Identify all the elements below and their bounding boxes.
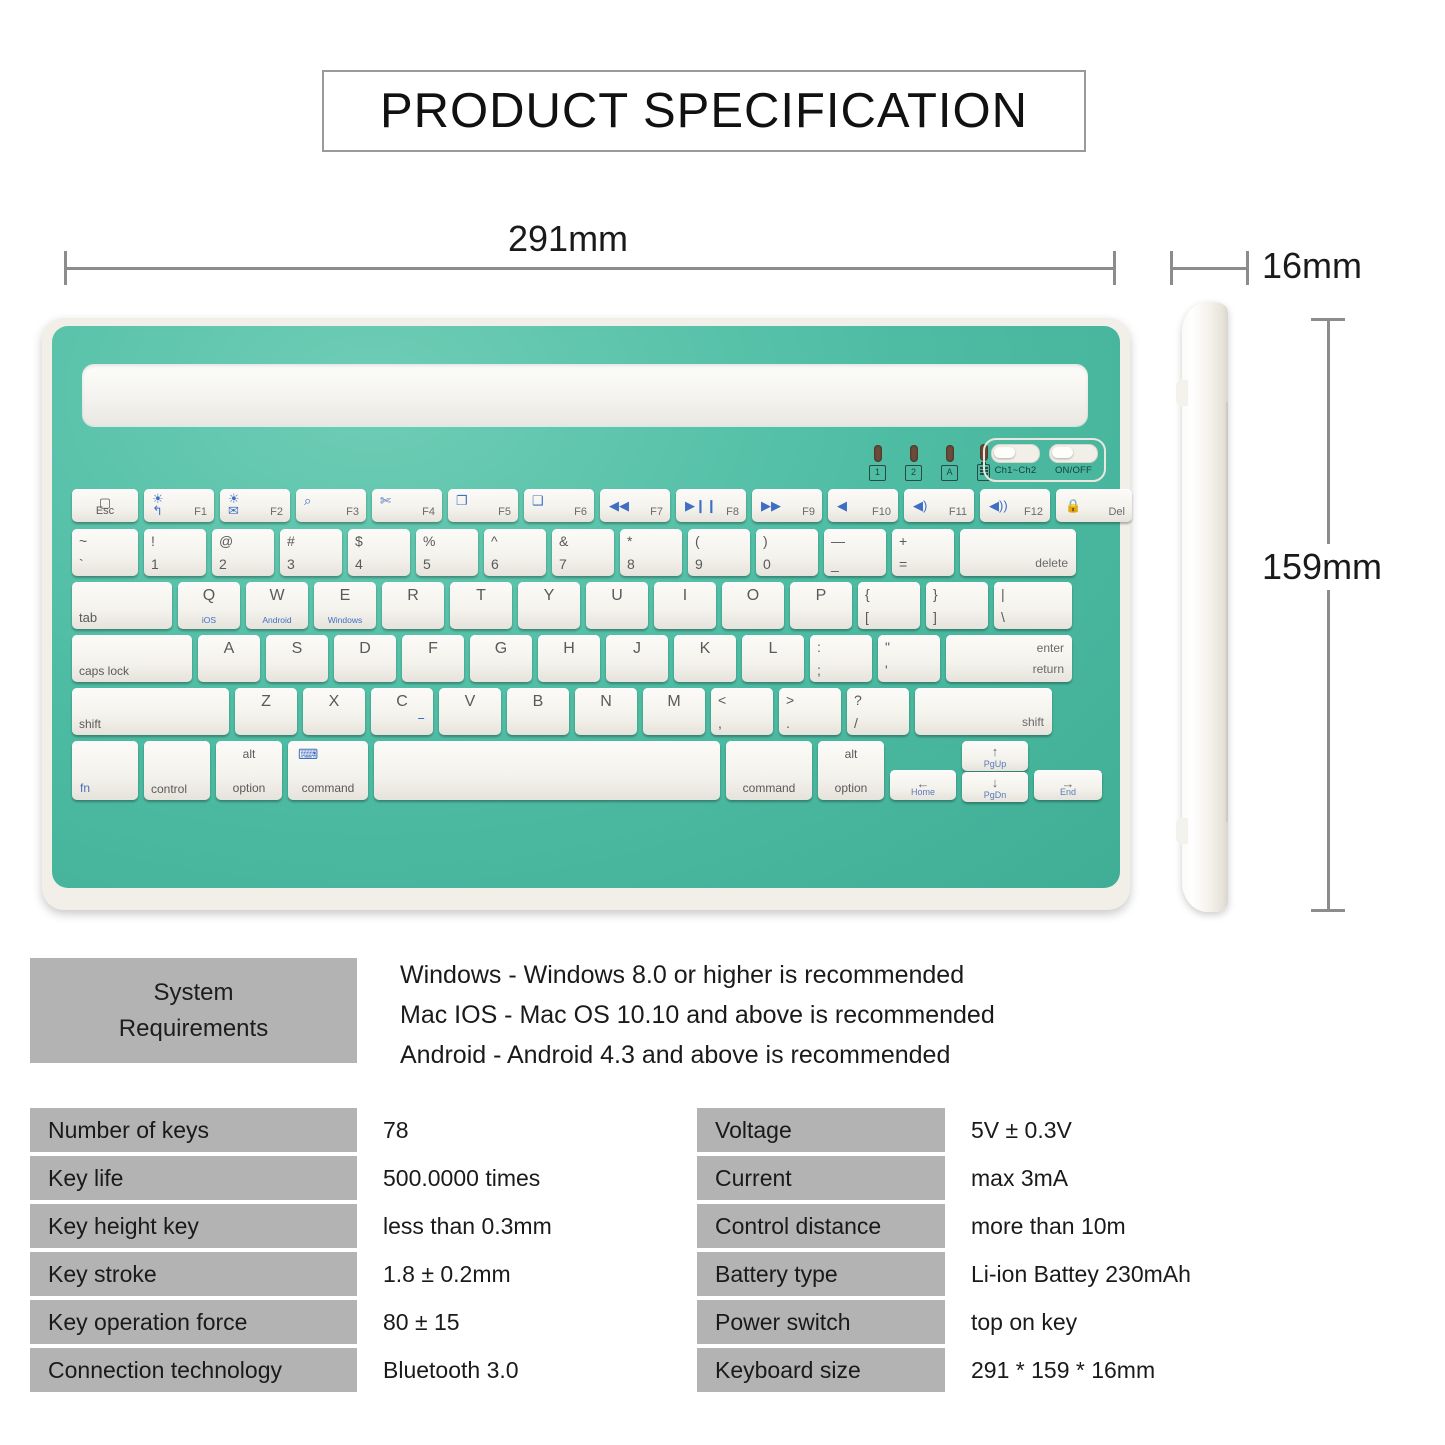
width-dimension-label: 291mm [508,218,628,260]
key-label: O [722,587,784,605]
power-switch-track[interactable] [1049,444,1098,463]
key-period[interactable]: > . [779,688,841,735]
key-arrow-up[interactable]: ↑ PgUp [962,741,1028,771]
key-label: E [314,587,376,605]
key-f7[interactable]: ◀◀ F7 [600,489,670,522]
key-f10-label: F10 [872,506,891,518]
key-label: F [402,640,464,658]
rewind-icon: ◀◀ [609,498,629,514]
home-key-row: caps lock A S D F G H J K L : ; " ' ente… [72,635,1072,682]
fast-forward-icon: ▶▶ [761,498,781,514]
key-f11-label: F11 [949,506,967,518]
power-switch-label: ON/OFF [1055,465,1092,476]
key-command-right-label: command [726,781,812,795]
key-pgup-label: PgUp [962,759,1028,769]
lock-icon: 🔒 [1065,498,1081,514]
channel-switch-label: Ch1~Ch2 [995,465,1037,476]
number-key-row: ~ ` ! 1 @ 2 # 3 $ 4 % 5 [72,529,1076,576]
key-9[interactable]: ( 9 [688,529,750,576]
key-backtick[interactable]: ~ ` [72,529,138,576]
key-fn[interactable]: fn [72,741,138,800]
requirement-mac: Mac IOS - Mac OS 10.10 and above is reco… [400,995,995,1035]
volume-down-icon: ◀) [913,498,927,514]
key-f12[interactable]: ◀)) F12 [980,489,1050,522]
key-0[interactable]: ) 0 [756,529,818,576]
height-dimension-line [1327,318,1330,912]
key-label: D [334,640,396,658]
key-f5[interactable]: ❐ F5 [448,489,518,522]
mail-icon: ✉ [228,504,239,517]
key-a[interactable]: A [198,635,260,682]
key-backslash[interactable]: | \ [994,582,1072,629]
key-label: A [198,640,260,658]
key-f4[interactable]: ✄ F4 [372,489,442,522]
key-esc[interactable]: ▢ Esc [72,489,138,522]
channel-2-label: 2 [905,465,922,481]
key-f6[interactable]: ❑ F6 [524,489,594,522]
key-bracket-left[interactable]: { [ [858,582,920,629]
depth-dimension-cap-left [1170,251,1173,285]
key-f3-label: F3 [346,506,359,518]
key-s[interactable]: S [266,635,328,682]
side-profile-shape [1182,302,1228,912]
page-title-box: PRODUCT SPECIFICATION [322,70,1086,152]
key-command-right[interactable]: command [726,741,812,800]
key-label-top: ~ [79,533,87,549]
key-f1[interactable]: ☀ ↰ F1 [144,489,214,522]
key-label-top: > [786,692,794,708]
key-f9-label: F9 [802,506,815,518]
key-equal[interactable]: + = [892,529,954,576]
key-sublabel-android: Android [246,615,308,625]
key-6[interactable]: ^ 6 [484,529,546,576]
channel-2-indicator: 2 [905,445,922,481]
key-x[interactable]: X [303,688,365,735]
arrow-vertical-stack: ↑ PgUp ↓ PgDn [962,741,1028,800]
depth-dimension-label: 16mm [1262,245,1362,287]
key-label-bottom: 3 [287,556,295,572]
key-label-bottom: ; [817,662,821,678]
width-dimension-line [64,267,1116,270]
key-label-top: < [718,692,726,708]
key-f2[interactable]: ☀ ✉ F2 [220,489,290,522]
key-arrow-right[interactable]: → End [1034,770,1102,800]
key-label-bottom: ] [933,609,937,625]
key-label-bottom: 1 [151,556,159,572]
key-f2-label: F2 [270,506,283,518]
mute-icon: ◀ [837,498,847,514]
key-label: Q [178,587,240,605]
system-requirements-label-line2: Requirements [119,1015,268,1043]
spec-label-power-switch: Power switch [697,1300,945,1344]
key-c[interactable]: C ᭸ [371,688,433,735]
spec-value-control-distance: more than 10m [945,1204,1412,1248]
spec-label-keyboard-size: Keyboard size [697,1348,945,1392]
key-label: G [470,640,532,658]
key-label-top: + [899,533,907,549]
key-return-label: return [1033,662,1064,676]
key-shift-left[interactable]: shift [72,688,229,735]
key-o[interactable]: O [722,582,784,629]
key-d[interactable]: D [334,635,396,682]
key-command-left[interactable]: ⌨ command [288,741,368,800]
indicator-cluster: 1 2 A [869,444,990,481]
caps-lock-label: A [941,465,958,481]
key-f8-label: F8 [726,506,739,518]
key-del-label: Del [1108,506,1125,518]
key-label-bottom: 7 [559,556,567,572]
key-bracket-right[interactable]: } ] [926,582,988,629]
spec-label-key-stroke: Key stroke [30,1252,357,1296]
key-label: L [742,640,804,658]
key-label: X [303,693,365,711]
key-arrow-down[interactable]: ↓ PgDn [962,772,1028,802]
key-alt-label: alt [818,747,884,761]
key-label-bottom: , [718,715,722,731]
key-home-label: Home [890,787,956,797]
key-h[interactable]: H [538,635,600,682]
keyboard-side-view [1176,302,1234,912]
key-label: M [643,693,705,711]
key-i[interactable]: I [654,582,716,629]
key-label-top: ^ [491,533,498,549]
spec-value-number-of-keys: 78 [357,1108,697,1152]
key-label-bottom: 5 [423,556,431,572]
key-j[interactable]: J [606,635,668,682]
key-f1-label: F1 [194,506,207,518]
key-delete[interactable]: delete [960,529,1076,576]
key-label-top: | [1001,586,1005,602]
key-shift-right[interactable]: shift [915,688,1052,735]
paste-icon: ❑ [532,494,544,507]
arrow-down-icon: ↓ [962,775,1028,790]
key-label-top: — [831,533,845,549]
key-arrow-left[interactable]: ← Home [890,770,956,800]
caps-lock-indicator: A [941,445,958,481]
key-label-bottom: 9 [695,556,703,572]
key-label-top: ? [854,692,862,708]
key-label-top: % [423,533,435,549]
key-label-bottom: / [854,715,858,731]
key-quote[interactable]: " ' [878,635,940,682]
key-fn-label: fn [80,781,90,795]
height-dimension-label: 159mm [1262,544,1382,590]
system-requirements-label-box: System Requirements [30,958,357,1063]
key-label: P [790,587,852,605]
power-switch[interactable]: ON/OFF [1049,444,1098,476]
key-3[interactable]: # 3 [280,529,342,576]
key-option-label: option [216,781,282,795]
key-label: T [450,587,512,605]
copy-icon: ❐ [456,494,468,507]
key-label-bottom: = [899,556,907,572]
keyboard-icon: ⌨ [298,747,318,761]
key-2[interactable]: @ 2 [212,529,274,576]
key-y[interactable]: Y [518,582,580,629]
key-slash[interactable]: ? / [847,688,909,735]
key-label-top: } [933,586,938,602]
key-caps-lock-label: caps lock [79,664,129,678]
search-icon: ⌕ [304,494,311,507]
spec-value-key-operation-force: 80 ± 15 [357,1300,697,1344]
key-label-top: $ [355,533,363,549]
key-option-left[interactable]: alt option [216,741,282,800]
key-p[interactable]: P [790,582,852,629]
key-label-bottom: . [786,715,790,731]
key-f8[interactable]: ▶❙❙ F8 [676,489,746,522]
shift-key-row: shift Z X C ᭸ V B N M < , > . ? / [72,688,1052,735]
spec-value-key-stroke: 1.8 ± 0.2mm [357,1252,697,1296]
key-label: Z [235,693,297,711]
key-label: N [575,693,637,711]
key-4[interactable]: $ 4 [348,529,410,576]
keyboard-face: 1 2 A Ch1~Ch2 ON/OFF [52,326,1120,888]
key-label-bottom: 4 [355,556,363,572]
key-f6-label: F6 [574,506,587,518]
system-requirements-list: Windows - Windows 8.0 or higher is recom… [400,955,995,1075]
key-label-bottom: 0 [763,556,771,572]
spec-label-key-operation-force: Key operation force [30,1300,357,1344]
key-t[interactable]: T [450,582,512,629]
key-b[interactable]: B [507,688,569,735]
key-n[interactable]: N [575,688,637,735]
key-label: R [382,587,444,605]
key-u[interactable]: U [586,582,648,629]
key-7[interactable]: & 7 [552,529,614,576]
width-dimension-cap-right [1113,251,1116,285]
scissors-icon: ✄ [380,494,391,507]
volume-up-icon: ◀)) [989,498,1008,514]
key-f5-label: F5 [498,506,511,518]
spec-label-key-life: Key life [30,1156,357,1200]
height-dimension-cap-top [1311,318,1345,321]
key-enter[interactable]: enter return [946,635,1072,682]
key-end-label: End [1034,787,1102,797]
key-f3[interactable]: ⌕ F3 [296,489,366,522]
bluetooth-icon: ᭸ [417,709,425,731]
key-label: J [606,640,668,658]
key-caps-lock[interactable]: caps lock [72,635,192,682]
key-f[interactable]: F [402,635,464,682]
led-icon [910,445,918,462]
key-g[interactable]: G [470,635,532,682]
key-e[interactable]: E Windows [314,582,376,629]
key-esc-label: Esc [72,505,138,517]
key-label: I [654,587,716,605]
specification-table: Number of keys 78 Voltage 5V ± 0.3V Key … [30,1108,1412,1392]
key-label-top: ( [695,533,700,549]
key-f10[interactable]: ◀ F10 [828,489,898,522]
led-icon [946,445,954,462]
key-8[interactable]: * 8 [620,529,682,576]
key-tab[interactable]: tab [72,582,172,629]
spec-label-voltage: Voltage [697,1108,945,1152]
key-label-bottom: 2 [219,556,227,572]
key-shift-left-label: shift [79,717,101,731]
key-m[interactable]: M [643,688,705,735]
depth-dimension-line [1170,267,1248,270]
key-label: S [266,640,328,658]
spec-label-key-height: Key height key [30,1204,357,1248]
depth-dimension-cap-right [1246,251,1249,285]
key-space[interactable] [374,741,720,800]
key-r[interactable]: R [382,582,444,629]
key-q[interactable]: Q iOS [178,582,240,629]
requirement-windows: Windows - Windows 8.0 or higher is recom… [400,955,995,995]
spec-value-key-life: 500.0000 times [357,1156,697,1200]
channel-switch[interactable]: Ch1~Ch2 [991,444,1040,476]
page-title: PRODUCT SPECIFICATION [380,83,1028,139]
key-label-top: * [627,533,632,549]
qwerty-key-row: tab Q iOS W Android E Windows R T Y U I … [72,582,1072,629]
channel-1-indicator: 1 [869,445,886,481]
key-label-bottom: \ [1001,609,1005,625]
key-control[interactable]: control [144,741,210,800]
key-5[interactable]: % 5 [416,529,478,576]
spec-value-keyboard-size: 291 * 159 * 16mm [945,1348,1412,1392]
key-label: V [439,693,501,711]
key-option-label: option [818,781,884,795]
requirement-android: Android - Android 4.3 and above is recom… [400,1035,995,1075]
key-l[interactable]: L [742,635,804,682]
spec-label-battery-type: Battery type [697,1252,945,1296]
key-label: B [507,693,569,711]
side-nub-bottom [1176,818,1188,844]
spec-value-battery-type: Li-ion Battey 230mAh [945,1252,1412,1296]
key-option-right[interactable]: alt option [818,741,884,800]
key-z[interactable]: Z [235,688,297,735]
key-label-bottom: ' [885,662,888,678]
key-pgdn-label: PgDn [962,790,1028,800]
key-sublabel-windows: Windows [314,615,376,625]
channel-switch-knob[interactable] [994,447,1015,458]
key-label-top: " [885,639,890,655]
key-delete-label: delete [1035,556,1068,570]
spec-label-number-of-keys: Number of keys [30,1108,357,1152]
key-v[interactable]: V [439,688,501,735]
switch-cluster: Ch1~Ch2 ON/OFF [983,438,1106,482]
led-icon [874,445,882,462]
back-icon: ↰ [152,504,163,517]
key-label-top: & [559,533,568,549]
key-label-bottom: [ [865,609,869,625]
spec-label-control-distance: Control distance [697,1204,945,1248]
system-requirements-label-line1: System [153,979,233,1007]
key-minus[interactable]: — _ [824,529,886,576]
key-f4-label: F4 [422,506,435,518]
key-enter-label: enter [1037,641,1064,655]
key-f11[interactable]: ◀) F11 [904,489,974,522]
spec-value-connection-technology: Bluetooth 3.0 [357,1348,697,1392]
key-label: U [586,587,648,605]
key-label: K [674,640,736,658]
spec-value-voltage: 5V ± 0.3V [945,1108,1412,1152]
spec-label-current: Current [697,1156,945,1200]
key-label-bottom: 6 [491,556,499,572]
key-label-top: : [817,639,821,655]
height-dimension-cap-bottom [1311,909,1345,912]
keyboard-top-view: 1 2 A Ch1~Ch2 ON/OFF [42,318,1130,910]
key-k[interactable]: K [674,635,736,682]
width-dimension-cap-left [64,251,67,285]
tablet-stand-groove [82,364,1088,426]
key-f7-label: F7 [650,506,663,518]
key-alt-label: alt [216,747,282,761]
key-label-top: ) [763,533,768,549]
power-switch-knob[interactable] [1052,447,1073,458]
function-key-row: ▢ Esc ☀ ↰ F1 ☀ ✉ F2 ⌕ F3 ✄ F4 ❐ [72,489,1132,522]
key-semicolon[interactable]: : ; [810,635,872,682]
channel-switch-track[interactable] [991,444,1040,463]
key-sublabel-ios: iOS [178,615,240,625]
key-label-top: { [865,586,870,602]
bottom-key-row: fn control alt option ⌨ command command … [72,741,1102,800]
channel-1-label: 1 [869,465,886,481]
key-label-bottom: ` [79,556,84,572]
key-del[interactable]: 🔒 Del [1056,489,1132,522]
spec-value-key-height: less than 0.3mm [357,1204,697,1248]
spec-value-current: max 3mA [945,1156,1412,1200]
key-label: H [538,640,600,658]
key-w[interactable]: W Android [246,582,308,629]
key-control-label: control [151,782,187,796]
side-nub-top [1176,380,1188,406]
key-command-label: command [288,781,368,795]
key-comma[interactable]: < , [711,688,773,735]
play-pause-icon: ▶❙❙ [685,498,717,514]
key-label-bottom: 8 [627,556,635,572]
key-label-top: # [287,533,295,549]
spec-value-power-switch: top on key [945,1300,1412,1344]
key-tab-label: tab [79,610,97,625]
key-label: W [246,587,308,605]
key-f12-label: F12 [1024,506,1043,518]
key-label-top: @ [219,533,233,549]
side-seam-line [1226,402,1228,822]
key-label-top: ! [151,533,155,549]
key-1[interactable]: ! 1 [144,529,206,576]
spec-label-connection-technology: Connection technology [30,1348,357,1392]
key-label: Y [518,587,580,605]
key-f9[interactable]: ▶▶ F9 [752,489,822,522]
key-label-bottom: _ [831,556,839,572]
key-shift-right-label: shift [1022,715,1044,729]
arrow-up-icon: ↑ [962,744,1028,759]
